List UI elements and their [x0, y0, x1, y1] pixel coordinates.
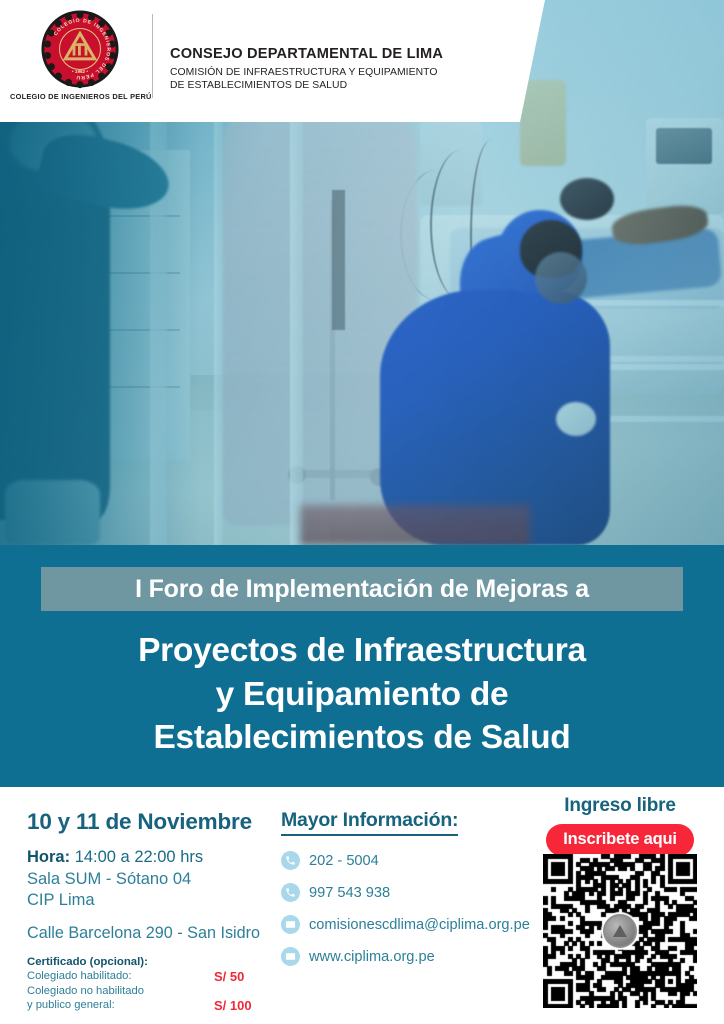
event-time-value: 14:00 a 22:00 hrs	[75, 848, 203, 866]
venue-line-2: CIP Lima	[27, 890, 277, 911]
registration-column: Ingreso libre Inscribete aqui	[536, 795, 704, 1008]
header-divider	[152, 14, 153, 98]
event-time-row: Hora: 14:00 a 22:00 hrs	[27, 848, 277, 867]
header-subtitle: COMISIÓN DE INFRAESTRUCTURA Y EQUIPAMIEN…	[170, 66, 500, 93]
phone-icon	[281, 851, 300, 870]
header-subtitle-line1: COMISIÓN DE INFRAESTRUCTURA Y EQUIPAMIEN…	[170, 66, 500, 79]
event-time-label: Hora:	[27, 848, 70, 866]
certificate-row-1: Colegiado habilitado: S/ 50	[27, 969, 277, 984]
contact-value: comisionescdlima@ciplima.org.pe	[309, 917, 530, 933]
venue-line-1: Sala SUM - Sótano 04	[27, 869, 277, 890]
contact-value: www.ciplima.org.pe	[309, 949, 435, 965]
contact-value: 997 543 938	[309, 885, 390, 901]
certificate-row-1-label: Colegiado habilitado:	[27, 970, 132, 982]
registration-heading: Ingreso libre	[536, 795, 704, 817]
header-text-block: CONSEJO DEPARTAMENTAL DE LIMA COMISIÓN D…	[170, 46, 500, 92]
header-subtitle-line2: DE ESTABLECIMIENTOS DE SALUD	[170, 79, 500, 92]
event-date: 10 y 11 de Noviembre	[27, 809, 277, 835]
contact-item-email[interactable]: comisionescdlima@ciplima.org.pe	[281, 915, 541, 934]
contact-item-phone-2[interactable]: 997 543 938	[281, 883, 541, 902]
cip-seal-icon: COLEGIO DE INGENIEROS DEL PERU • 1962 •	[39, 8, 121, 90]
logo-caption: COLEGIO DE INGENIEROS DEL PERÚ	[10, 92, 150, 101]
hero-title-line1: Proyectos de Infraestructura	[0, 629, 724, 673]
svg-text:• 1962 •: • 1962 •	[72, 69, 88, 74]
certificate-row-2: Colegiado no habilitado y publico genera…	[27, 984, 277, 1014]
contact-column: Mayor Información: 202 - 5004 997 543 93…	[281, 809, 541, 979]
register-button[interactable]: Inscribete aqui	[546, 824, 693, 856]
certificate-block: Certificado (opcional): Colegiado habili…	[27, 956, 277, 1013]
contact-value: 202 - 5004	[309, 853, 379, 869]
hero-title-line3: Establecimientos de Salud	[0, 716, 724, 760]
contact-heading: Mayor Información:	[281, 809, 458, 836]
hero-subtitle-text: I Foro de Implementación de Mejoras a	[135, 575, 589, 604]
envelope-icon	[281, 915, 300, 934]
footer-info: 10 y 11 de Noviembre Hora: 14:00 a 22:00…	[0, 787, 724, 1024]
qr-center-logo-icon	[603, 914, 637, 948]
certificate-row-1-price: S/ 50	[214, 968, 244, 985]
hero-title-band: I Foro de Implementación de Mejoras a Pr…	[0, 545, 724, 787]
contact-item-website[interactable]: www.ciplima.org.pe	[281, 947, 541, 966]
hero-subtitle-banner: I Foro de Implementación de Mejoras a	[41, 567, 683, 611]
hero-main-title: Proyectos de Infraestructura y Equipamie…	[0, 629, 724, 760]
hero-title-line2: y Equipamiento de	[0, 673, 724, 717]
certificate-title: Certificado (opcional):	[27, 956, 277, 968]
event-details-column: 10 y 11 de Noviembre Hora: 14:00 a 22:00…	[27, 809, 277, 1013]
phone-icon	[281, 883, 300, 902]
contact-item-phone-1[interactable]: 202 - 5004	[281, 851, 541, 870]
certificate-row-2-price: S/ 100	[214, 997, 252, 1014]
event-address: Calle Barcelona 290 - San Isidro	[27, 924, 277, 943]
cip-seal-svg: COLEGIO DE INGENIEROS DEL PERU • 1962 •	[39, 8, 121, 90]
qr-code[interactable]	[543, 854, 697, 1008]
poster-root: COLEGIO DE INGENIEROS DEL PERU • 1962 • …	[0, 0, 724, 1024]
envelope-icon	[281, 947, 300, 966]
cip-logo: COLEGIO DE INGENIEROS DEL PERU • 1962 • …	[10, 8, 150, 101]
event-venue: Sala SUM - Sótano 04 CIP Lima	[27, 869, 277, 912]
header-title: CONSEJO DEPARTAMENTAL DE LIMA	[170, 46, 500, 63]
